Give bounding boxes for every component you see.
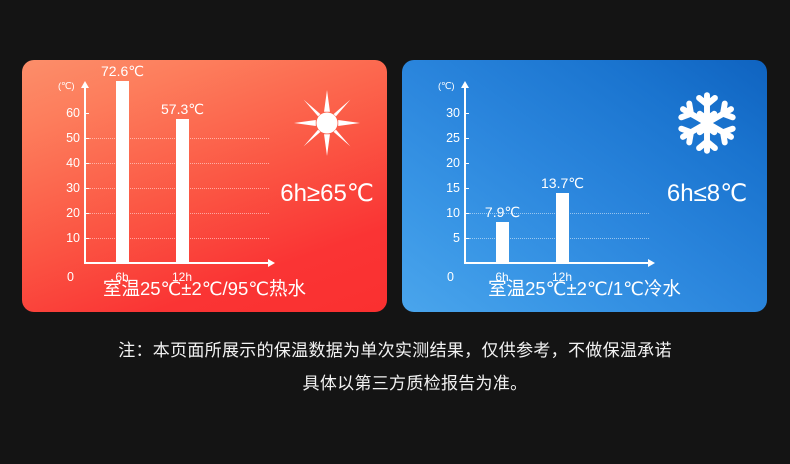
y-axis-label: 30 xyxy=(430,107,460,120)
y-axis-label: 20 xyxy=(430,157,460,170)
y-axis-tick xyxy=(84,113,89,115)
y-axis-tick xyxy=(464,138,469,140)
hot-water-bar-chart: (℃) 60 50 40 30 20 10 xyxy=(50,78,300,283)
cold-water-bar-chart: (℃) 30 25 20 15 10 5 0 7.9℃ xyxy=(430,78,680,283)
bar-6h xyxy=(116,81,129,262)
x-axis-line xyxy=(84,262,269,264)
cold-claim-text: 6h≤8℃ xyxy=(647,182,767,206)
footnote-line-1: 注：本页面所展示的保温数据为单次实测结果，仅供参考，不做保温承诺 xyxy=(0,334,790,367)
y-axis-label: 5 xyxy=(430,232,460,245)
y-axis-unit-label: (℃) xyxy=(438,82,454,92)
y-axis-tick xyxy=(464,113,469,115)
hot-claim-text: 6h≥65℃ xyxy=(267,182,387,206)
y-axis-label: 25 xyxy=(430,132,460,145)
y-axis-label: 50 xyxy=(50,132,80,145)
bar-value-6h: 72.6℃ xyxy=(81,64,164,78)
hot-claim-block: 6h≥65℃ xyxy=(267,82,387,272)
hot-water-panel: (℃) 60 50 40 30 20 10 xyxy=(22,60,387,312)
footnote: 注：本页面所展示的保温数据为单次实测结果，仅供参考，不做保温承诺 具体以第三方质… xyxy=(0,334,790,400)
y-axis-tick xyxy=(464,163,469,165)
y-axis-arrow-icon xyxy=(461,81,469,88)
y-axis-tick xyxy=(84,138,89,140)
comparison-panels: (℃) 60 50 40 30 20 10 xyxy=(0,0,790,318)
hot-caption: 室温25℃±2℃/95℃热水 xyxy=(22,280,387,299)
y-axis-tick xyxy=(84,188,89,190)
y-axis-label: 15 xyxy=(430,182,460,195)
bar-value-12h: 13.7℃ xyxy=(521,176,604,190)
y-axis-label: 20 xyxy=(50,207,80,220)
y-axis-label: 10 xyxy=(50,232,80,245)
x-axis-line xyxy=(464,262,649,264)
y-axis-tick xyxy=(84,163,89,165)
snowflake-icon xyxy=(674,90,740,156)
bar-12h xyxy=(176,119,189,262)
cold-water-panel: (℃) 30 25 20 15 10 5 0 7.9℃ xyxy=(402,60,767,312)
y-axis-unit-label: (℃) xyxy=(58,82,74,92)
y-axis-label: 40 xyxy=(50,157,80,170)
cold-claim-block: 6h≤8℃ xyxy=(647,82,767,272)
y-axis-arrow-icon xyxy=(81,81,89,88)
sun-icon xyxy=(294,90,360,156)
y-axis-tick xyxy=(84,238,89,240)
cold-caption: 室温25℃±2℃/1℃冷水 xyxy=(402,280,767,299)
bar-6h xyxy=(496,222,509,262)
y-axis-label: 10 xyxy=(430,207,460,220)
y-axis-label: 30 xyxy=(50,182,80,195)
bar-value-6h: 7.9℃ xyxy=(461,205,544,219)
footnote-line-2: 具体以第三方质检报告为准。 xyxy=(0,367,790,400)
y-axis-tick xyxy=(84,213,89,215)
y-axis-label: 60 xyxy=(50,107,80,120)
y-axis-tick xyxy=(464,238,469,240)
bar-value-12h: 57.3℃ xyxy=(141,102,224,116)
bar-12h xyxy=(556,193,569,262)
y-axis-tick xyxy=(464,188,469,190)
